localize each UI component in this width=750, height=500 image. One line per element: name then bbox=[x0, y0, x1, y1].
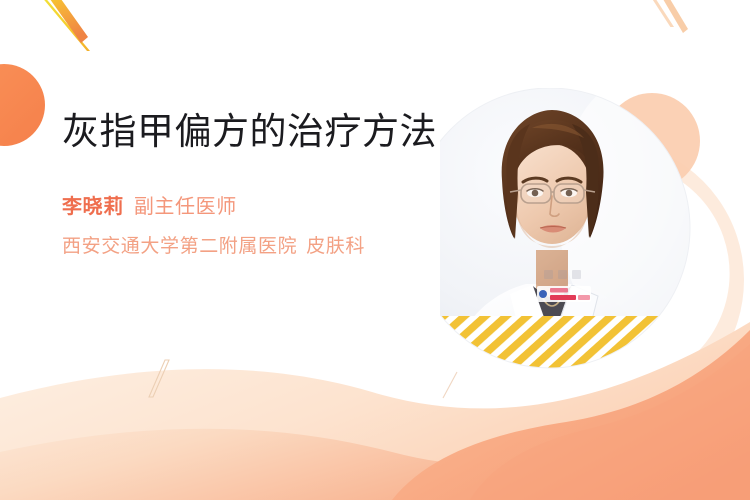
doctor-title: 副主任医师 bbox=[134, 196, 237, 218]
text-block: 灰指甲偏方的治疗方法 李晓莉副主任医师 西安交通大学第二附属医院皮肤科 bbox=[62, 108, 462, 262]
id-badge bbox=[537, 286, 591, 302]
hospital-name: 西安交通大学第二附属医院 bbox=[62, 236, 297, 257]
affiliation: 西安交通大学第二附属医院皮肤科 bbox=[62, 233, 462, 262]
page-title: 灰指甲偏方的治疗方法 bbox=[62, 108, 462, 156]
doctor-portrait bbox=[440, 88, 702, 378]
byline: 李晓莉副主任医师 bbox=[62, 192, 462, 222]
doctor-name: 李晓莉 bbox=[62, 196, 124, 218]
portrait-stripe-wedge bbox=[440, 316, 702, 378]
promo-slide: 灰指甲偏方的治疗方法 李晓莉副主任医师 西安交通大学第二附属医院皮肤科 bbox=[0, 0, 750, 500]
coat-print bbox=[544, 270, 581, 279]
department-name: 皮肤科 bbox=[306, 236, 365, 257]
